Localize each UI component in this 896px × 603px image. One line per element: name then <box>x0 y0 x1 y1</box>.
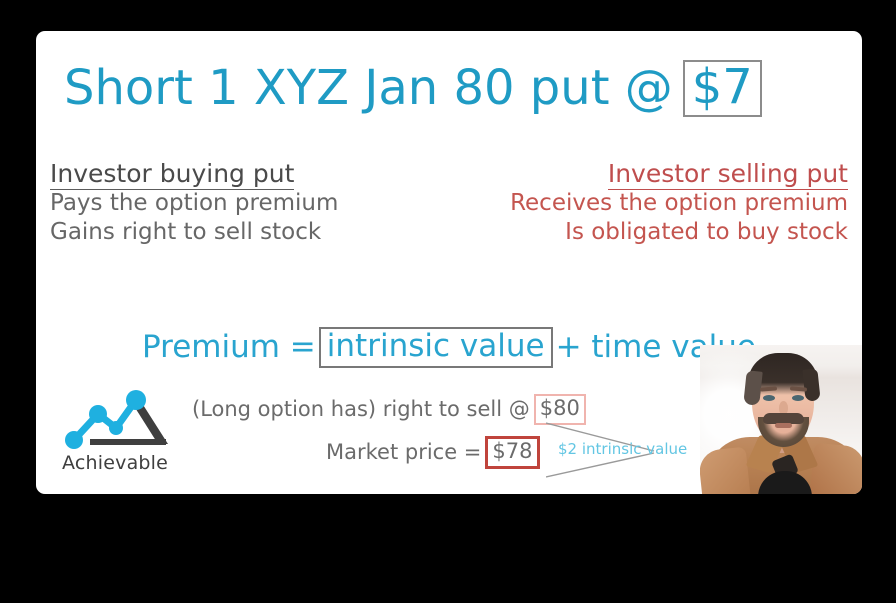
player-controls <box>0 494 896 603</box>
comparison-columns: Investor buying put Pays the option prem… <box>36 159 862 259</box>
slide-title: Short 1 XYZ Jan 80 put @ $7 <box>64 53 854 123</box>
buyer-column-heading: Investor buying put <box>50 159 450 189</box>
example-market-value: $78 <box>485 436 539 469</box>
presenter-shoulder-left <box>700 447 750 494</box>
logo-dot-1 <box>65 431 83 449</box>
presenter-eye-left <box>763 395 775 401</box>
seller-column-heading: Investor selling put <box>448 159 848 189</box>
example-strike-value: $80 <box>534 394 586 425</box>
example-market-label: Market price = <box>326 440 481 464</box>
logo-dot-3 <box>109 421 123 435</box>
example-strike-label: (Long option has) right to sell @ <box>192 397 530 421</box>
logo-baseline-shape <box>90 439 166 445</box>
intrinsic-value-example: (Long option has) right to sell @ $80 Ma… <box>156 386 586 486</box>
achievable-logo-mark <box>60 388 180 454</box>
presenter-video-overlay <box>700 345 862 494</box>
presenter-hair-right <box>802 368 820 401</box>
example-row-market: Market price = $78 <box>326 436 540 469</box>
example-row-strike: (Long option has) right to sell @ $80 <box>192 394 586 425</box>
seller-column-heading-text: Investor selling put <box>608 159 848 190</box>
seller-column-line-2: Is obligated to buy stock <box>448 218 848 247</box>
formula-lead: Premium = <box>142 329 316 365</box>
seller-column-line-1: Receives the option premium <box>448 189 848 218</box>
formula-boxed-term: intrinsic value <box>319 327 553 368</box>
logo-chart-line <box>74 400 136 440</box>
slide-canvas: Short 1 XYZ Jan 80 put @ $7 Investor buy… <box>36 31 862 494</box>
logo-dot-2 <box>89 405 107 423</box>
presenter-mouth <box>775 423 792 428</box>
logo-dot-4 <box>126 390 146 410</box>
achievable-wordmark: Achievable <box>62 454 168 473</box>
slide-title-boxed-value: $7 <box>683 60 762 117</box>
buyer-column-line-1: Pays the option premium <box>50 189 450 218</box>
seller-column: Investor selling put Receives the option… <box>448 159 848 247</box>
presenter-shoulder-right <box>810 443 862 494</box>
achievable-logo: Achievable <box>60 388 205 483</box>
buyer-column-line-2: Gains right to sell stock <box>50 218 450 247</box>
slide-title-text: Short 1 XYZ Jan 80 put @ <box>64 64 673 112</box>
buyer-column: Investor buying put Pays the option prem… <box>50 159 450 247</box>
video-player: Short 1 XYZ Jan 80 put @ $7 Investor buy… <box>0 0 896 603</box>
buyer-column-heading-text: Investor buying put <box>50 159 294 190</box>
intrinsic-value-annotation: $2 intrinsic value <box>558 442 687 457</box>
presenter-video-frame <box>700 345 862 494</box>
presenter-eye-right <box>792 395 804 401</box>
